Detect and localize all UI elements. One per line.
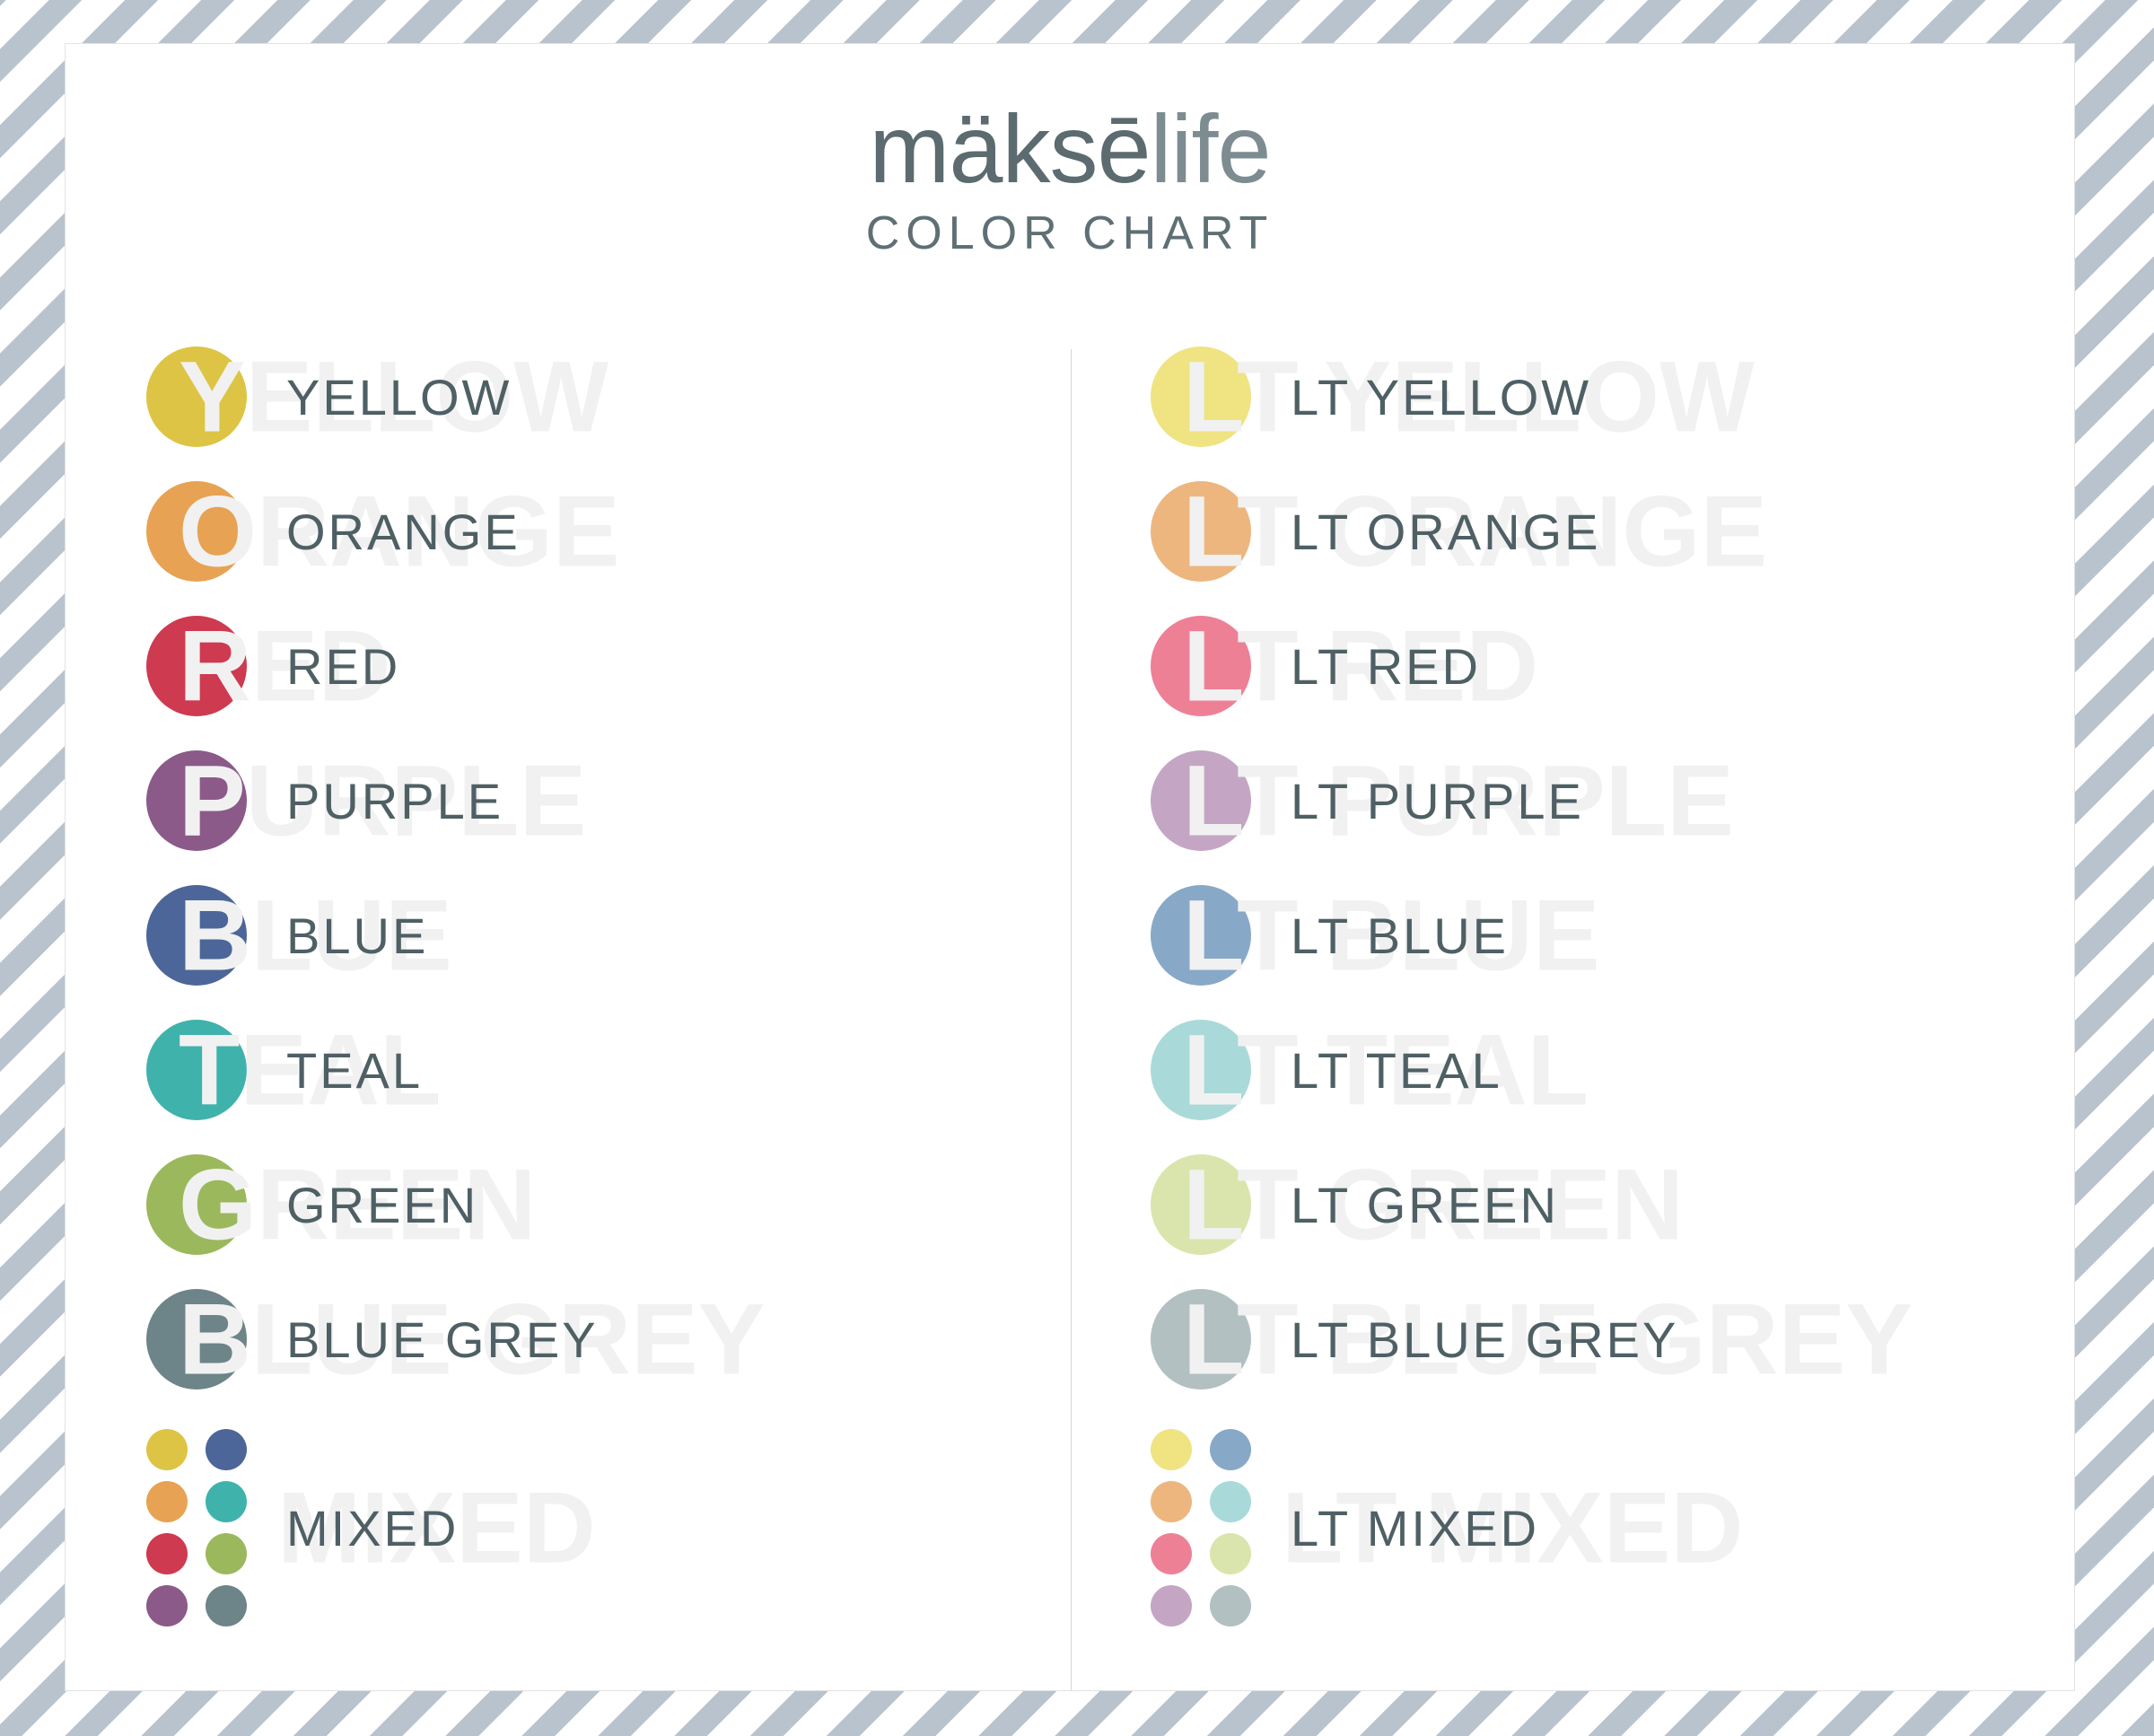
color-label-wrap: LT MIXEDLT MIXED xyxy=(1291,1407,2074,1649)
mixed-swatch-grid-light-colors xyxy=(1151,1429,1251,1626)
color-swatch-lt-orange xyxy=(1151,481,1251,582)
color-swatch-green xyxy=(146,1154,247,1255)
color-label: LT BLUE xyxy=(1291,907,1509,965)
color-label-wrap: ORANGEORANGE xyxy=(286,464,1070,599)
color-row: REDRED xyxy=(146,599,1070,733)
color-row: LT GREENLT GREEN xyxy=(1151,1137,2074,1272)
color-label-wrap: REDRED xyxy=(286,599,1070,733)
color-label: TEAL xyxy=(286,1041,423,1100)
color-row: BLUEBLUE xyxy=(146,868,1070,1003)
mixed-swatch-dot xyxy=(206,1481,247,1522)
color-label: BLUE GREY xyxy=(286,1311,599,1369)
color-swatch-lt-blue xyxy=(1151,885,1251,986)
color-swatch-lt-blue-grey xyxy=(1151,1289,1251,1390)
color-label: LT GREEN xyxy=(1291,1176,1559,1234)
color-row: GREENGREEN xyxy=(146,1137,1070,1272)
mixed-swatch-dot xyxy=(146,1533,188,1574)
color-label-wrap: GREENGREEN xyxy=(286,1137,1070,1272)
color-swatch-lt-purple xyxy=(1151,750,1251,851)
color-label: MIXED xyxy=(286,1499,459,1557)
color-label: ORANGE xyxy=(286,503,521,561)
mixed-swatch-dot xyxy=(206,1585,247,1626)
mixed-color-row: MIXEDMIXED xyxy=(146,1407,1070,1649)
color-row: LT TEALLT TEAL xyxy=(1151,1003,2074,1137)
color-label-wrap: PURPLEPURPLE xyxy=(286,733,1070,868)
mixed-swatch-dot xyxy=(1210,1481,1251,1522)
mixed-swatch-dot xyxy=(1151,1481,1192,1522)
mixed-swatch-dot xyxy=(146,1429,188,1470)
color-swatch-purple xyxy=(146,750,247,851)
mixed-swatch-dot xyxy=(1210,1533,1251,1574)
color-swatch-lt-red xyxy=(1151,616,1251,716)
color-label-wrap: MIXEDMIXED xyxy=(286,1407,1070,1649)
color-row: LT BLUE GREYLT BLUE GREY xyxy=(1151,1272,2074,1407)
color-swatch-yellow xyxy=(146,346,247,447)
color-swatch-lt-teal xyxy=(1151,1020,1251,1120)
color-label: LT ORANGE xyxy=(1291,503,1600,561)
color-label: BLUE xyxy=(286,907,428,965)
color-swatch-lt-yellow xyxy=(1151,346,1251,447)
color-label-wrap: LT GREENLT GREEN xyxy=(1291,1137,2074,1272)
color-label: LT PURPLE xyxy=(1291,772,1584,830)
color-label-wrap: LT BLUELT BLUE xyxy=(1291,868,2074,1003)
color-row: LT REDLT RED xyxy=(1151,599,2074,733)
color-swatch-lt-green xyxy=(1151,1154,1251,1255)
color-label: GREEN xyxy=(286,1176,478,1234)
mixed-swatch-dot xyxy=(1210,1429,1251,1470)
color-label: RED xyxy=(286,637,400,696)
color-label: LT YELLOW xyxy=(1291,368,1591,426)
brand-primary-text: mäksē xyxy=(869,94,1150,203)
mixed-swatch-dot xyxy=(146,1481,188,1522)
color-row: BLUE GREYBLUE GREY xyxy=(146,1272,1070,1407)
mixed-swatch-dot xyxy=(206,1533,247,1574)
color-row: LT ORANGELT ORANGE xyxy=(1151,464,2074,599)
color-label: YELLOW xyxy=(286,368,512,426)
light-colors-column: LT YELLOWLT YELLOWLT ORANGELT ORANGELT R… xyxy=(1070,329,2074,1649)
color-chart-card: mäksēlife COLOR CHART YELLOWYELLOWORANGE… xyxy=(65,43,2075,1691)
color-label: LT RED xyxy=(1291,637,1481,696)
color-label-wrap: LT TEALLT TEAL xyxy=(1291,1003,2074,1137)
color-row: PURPLEPURPLE xyxy=(146,733,1070,868)
mixed-swatch-dot xyxy=(1210,1585,1251,1626)
color-label-wrap: YELLOWYELLOW xyxy=(286,329,1070,464)
color-row: ORANGEORANGE xyxy=(146,464,1070,599)
chart-subtitle: COLOR CHART xyxy=(66,206,2074,260)
color-label: LT MIXED xyxy=(1291,1499,1539,1557)
color-swatch-blue xyxy=(146,885,247,986)
color-swatch-orange xyxy=(146,481,247,582)
mixed-swatch-dot xyxy=(1151,1533,1192,1574)
color-label-wrap: LT REDLT RED xyxy=(1291,599,2074,733)
chart-header: mäksēlife COLOR CHART xyxy=(66,98,2074,260)
color-row: LT BLUELT BLUE xyxy=(1151,868,2074,1003)
page-background: mäksēlife COLOR CHART YELLOWYELLOWORANGE… xyxy=(0,0,2154,1736)
mixed-color-row: LT MIXEDLT MIXED xyxy=(1151,1407,2074,1649)
brand-logo: mäksēlife xyxy=(66,98,2074,199)
color-columns: YELLOWYELLOWORANGEORANGEREDREDPURPLEPURP… xyxy=(66,329,2074,1649)
color-row: LT YELLOWLT YELLOW xyxy=(1151,329,2074,464)
color-label-wrap: LT YELLOWLT YELLOW xyxy=(1291,329,2074,464)
color-label-wrap: TEALTEAL xyxy=(286,1003,1070,1137)
color-swatch-red xyxy=(146,616,247,716)
color-row: LT PURPLELT PURPLE xyxy=(1151,733,2074,868)
standard-colors-column: YELLOWYELLOWORANGEORANGEREDREDPURPLEPURP… xyxy=(66,329,1070,1649)
color-swatch-blue-grey xyxy=(146,1289,247,1390)
mixed-swatch-dot xyxy=(146,1585,188,1626)
color-label-wrap: LT ORANGELT ORANGE xyxy=(1291,464,2074,599)
brand-secondary-text: life xyxy=(1151,94,1271,203)
color-label-wrap: BLUEBLUE xyxy=(286,868,1070,1003)
color-row: TEALTEAL xyxy=(146,1003,1070,1137)
mixed-swatch-grid-standard-colors xyxy=(146,1429,247,1626)
color-label: LT BLUE GREY xyxy=(1291,1311,1678,1369)
color-label: PURPLE xyxy=(286,772,503,830)
color-label-wrap: BLUE GREYBLUE GREY xyxy=(286,1272,1070,1407)
color-swatch-teal xyxy=(146,1020,247,1120)
mixed-swatch-dot xyxy=(1151,1585,1192,1626)
color-label-wrap: LT PURPLELT PURPLE xyxy=(1291,733,2074,868)
mixed-swatch-dot xyxy=(206,1429,247,1470)
color-label-wrap: LT BLUE GREYLT BLUE GREY xyxy=(1291,1272,2074,1407)
mixed-swatch-dot xyxy=(1151,1429,1192,1470)
color-label: LT TEAL xyxy=(1291,1041,1502,1100)
color-row: YELLOWYELLOW xyxy=(146,329,1070,464)
